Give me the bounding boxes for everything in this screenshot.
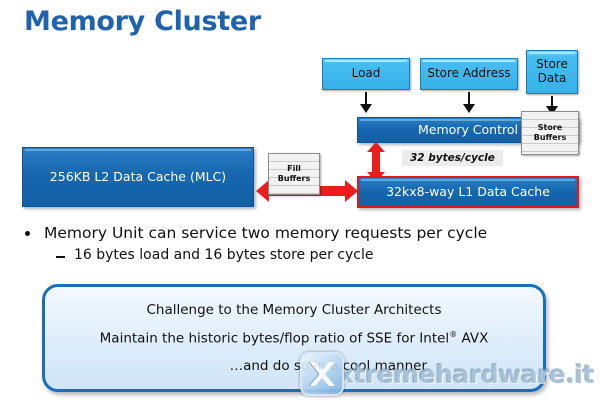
load-box-label: Load (352, 67, 381, 81)
diagram-box-l1-data-cache[interactable]: 32kx8-way L1 Data Cache (357, 176, 579, 208)
arrow-memory-control-to-l1 (372, 151, 380, 173)
fill-buffers-label: Fill Buffers (278, 164, 310, 184)
red-arrow-up-head-icon (367, 142, 385, 152)
bullet-dash-icon (56, 256, 65, 258)
bullet-secondary-text: 16 bytes load and 16 bytes store per cyc… (74, 247, 373, 263)
callout-line-2-after: AVX (457, 330, 488, 346)
store-buffers-label-line2: Buffers (534, 133, 566, 142)
store-buffers-label-line1: Store (538, 123, 562, 132)
callout-box: Challenge to the Memory Cluster Architec… (42, 284, 546, 392)
callout-line-1: Challenge to the Memory Cluster Architec… (146, 302, 441, 318)
diagram-box-l2-data-cache[interactable]: 256KB L2 Data Cache (MLC) (22, 147, 254, 207)
callout-line-3: …and do so in a cool manner (230, 358, 427, 374)
bullet-item-primary: Memory Unit can service two memory reque… (18, 224, 578, 242)
callout-line-2-before: Maintain the historic bytes/flop ratio o… (100, 330, 450, 346)
red-arrow-right-head-icon (345, 180, 358, 202)
diagram-box-load[interactable]: Load (322, 58, 410, 90)
bullet-list: Memory Unit can service two memory reque… (18, 224, 578, 263)
fill-buffers-label-line1: Fill (287, 164, 301, 173)
diagram-box-store-address[interactable]: Store Address (420, 58, 518, 90)
bullet-item-secondary: 16 bytes load and 16 bytes store per cyc… (18, 247, 578, 263)
callout-line-2: Maintain the historic bytes/flop ratio o… (100, 330, 489, 347)
slide-canvas: Memory Cluster Load Store Address Store … (0, 0, 600, 410)
store-data-box-label-line2: Data (538, 72, 567, 86)
bullet-primary-text: Memory Unit can service two memory reque… (44, 224, 487, 242)
l2-cache-box-label: 256KB L2 Data Cache (MLC) (50, 170, 226, 184)
store-address-box-label: Store Address (427, 67, 510, 81)
l1-cache-box-label: 32kx8-way L1 Data Cache (386, 185, 550, 199)
memory-control-box-label: Memory Control (418, 123, 518, 137)
bandwidth-label: 32 bytes/cycle (402, 150, 503, 166)
registered-mark: ® (449, 330, 457, 339)
bullet-dot-icon (25, 231, 30, 236)
arrow-load-head-icon (360, 104, 372, 113)
store-data-box-label-line1: Store (536, 58, 568, 72)
store-buffers-label: Store Buffers (534, 123, 566, 143)
page-title: Memory Cluster (24, 6, 261, 37)
diagram-box-fill-buffers[interactable]: Fill Buffers (268, 153, 320, 195)
diagram-box-store-buffers[interactable]: Store Buffers (521, 111, 579, 155)
diagram-box-store-data[interactable]: Store Data (526, 50, 578, 94)
arrow-store-address-head-icon (463, 104, 475, 113)
fill-buffers-label-line2: Buffers (278, 174, 310, 183)
